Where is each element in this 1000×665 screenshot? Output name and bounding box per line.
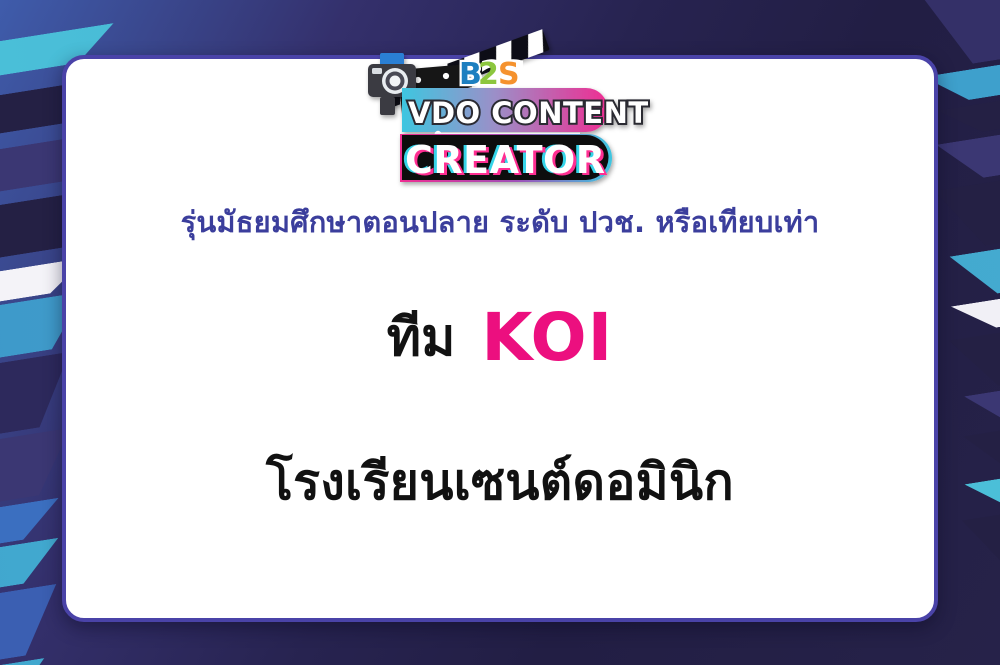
vdo-content-band: VDO CONTENT — [402, 88, 649, 137]
logo-line2: CREATOR — [405, 138, 606, 182]
vdo-content-creator-logo: B2S B 2 S CLUB VDO CONTENT CREATOR CREAT… — [350, 8, 650, 183]
creator-band: CREATOR CREATOR CREATOR — [400, 134, 612, 184]
school-name: โรงเรียนเซนต์ดอมินิก — [0, 443, 1000, 522]
poster-canvas: B2S B 2 S CLUB VDO CONTENT CREATOR CREAT… — [0, 0, 1000, 665]
logo-line1: VDO CONTENT — [408, 96, 649, 130]
team-line: ทีมKOI — [0, 305, 1000, 371]
team-name: KOI — [481, 299, 613, 376]
team-label: ทีม — [387, 308, 456, 368]
category-subtitle: รุ่นมัธยมศึกษาตอนปลาย ระดับ ปวช. หรือเที… — [0, 204, 1000, 240]
